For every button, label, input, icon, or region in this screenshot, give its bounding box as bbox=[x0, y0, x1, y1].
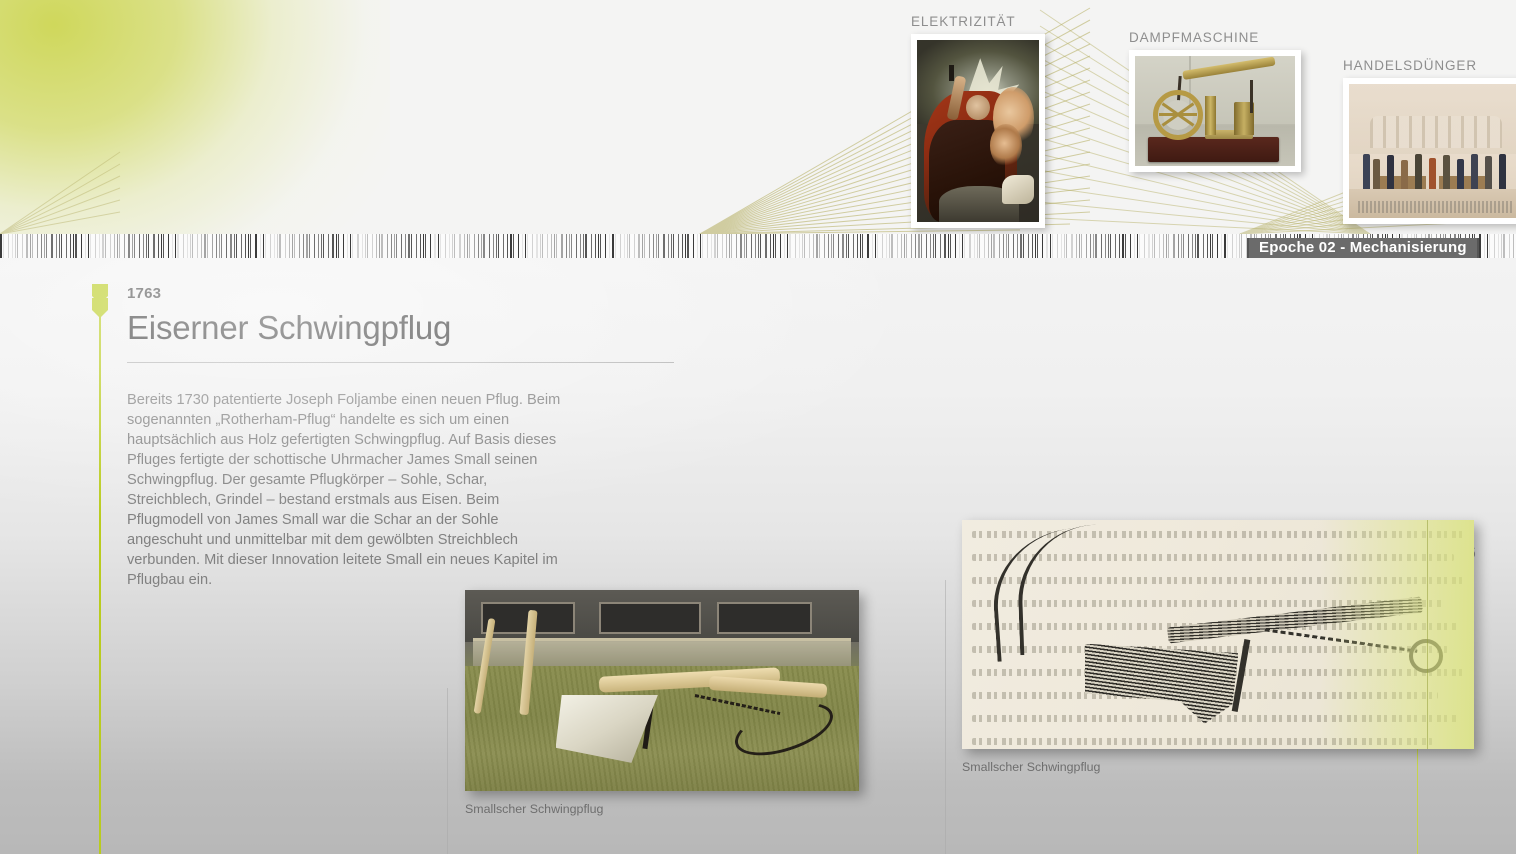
figure-frame bbox=[465, 590, 859, 791]
wooden-plow-photograph bbox=[465, 590, 859, 791]
steam-engine-photo-thumbnail bbox=[1135, 56, 1295, 166]
thumbnail-label: ELEKTRIZITÄT bbox=[911, 14, 1045, 29]
thumbnail-frame bbox=[911, 34, 1045, 228]
header-region: ELEKTRIZITÄT D bbox=[0, 0, 1516, 234]
thumbnail-elektrizitaet[interactable]: ELEKTRIZITÄT bbox=[911, 14, 1045, 228]
title-divider bbox=[127, 362, 674, 363]
article-block: 1763 Eiserner Schwingpflug Bereits 1730 … bbox=[127, 285, 687, 591]
exhibit-screen: ELEKTRIZITÄT D bbox=[0, 0, 1516, 854]
main-content: 1786 1763 Eiserner Schwingpflug Bereits … bbox=[0, 258, 1516, 854]
figure-frame bbox=[962, 520, 1474, 749]
figure-caption: Smallscher Schwingpflug bbox=[962, 760, 1474, 774]
timeline-stem-left bbox=[99, 292, 101, 854]
article-year: 1763 bbox=[127, 285, 687, 302]
thumbnail-frame bbox=[1343, 78, 1516, 224]
fan-rays-decoration-4 bbox=[0, 150, 120, 234]
franklin-painting-thumbnail bbox=[917, 40, 1039, 222]
figure-caption: Smallscher Schwingpflug bbox=[465, 802, 859, 816]
wheat-ear-icon bbox=[84, 278, 116, 336]
thumbnail-dampfmaschine[interactable]: DAMPFMASCHINE bbox=[1129, 30, 1301, 172]
thumbnail-label: DAMPFMASCHINE bbox=[1129, 30, 1301, 45]
thumbnail-handelsduenger[interactable]: HANDELSDÜNGER bbox=[1343, 58, 1516, 224]
fertilizer-laboratory-illustration-thumbnail bbox=[1349, 84, 1516, 218]
column-divider-right bbox=[945, 580, 946, 854]
figure-plow-engraving[interactable]: Smallscher Schwingpflug bbox=[962, 520, 1474, 774]
iron-plow-engraving bbox=[962, 520, 1474, 749]
thumbnail-frame bbox=[1129, 50, 1301, 172]
epoch-badge: Epoche 02 - Mechanisierung bbox=[1247, 238, 1479, 258]
fan-rays-decoration bbox=[690, 0, 1110, 234]
page-title: Eiserner Schwingpflug bbox=[127, 310, 687, 346]
corner-glow-decoration bbox=[0, 0, 390, 234]
column-divider-left bbox=[447, 688, 448, 854]
figure-plow-photo[interactable]: Smallscher Schwingpflug bbox=[465, 590, 859, 816]
article-body: Bereits 1730 patentierte Joseph Foljambe… bbox=[127, 390, 565, 591]
thumbnail-label: HANDELSDÜNGER bbox=[1343, 58, 1516, 73]
